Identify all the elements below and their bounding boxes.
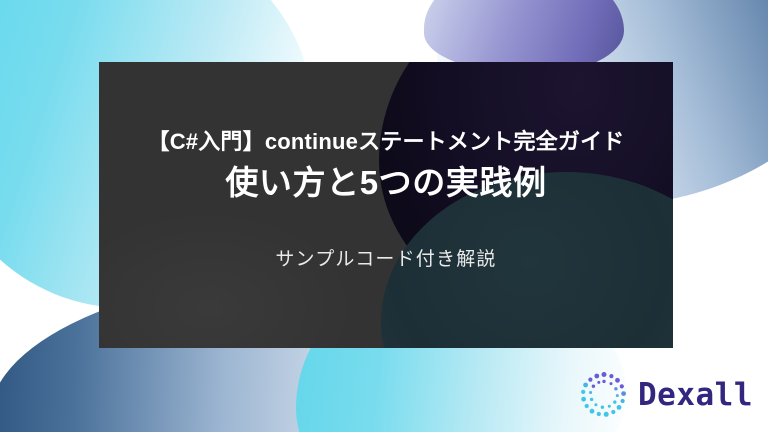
title-line-2: 使い方と5つの実践例 [225,162,546,205]
logo-wordmark: Dexall [638,380,753,411]
eyecatch-canvas: 【C#入門】continueステートメント完全ガイド 使い方と5つの実践例 サン… [0,0,768,432]
title-line-1: 【C#入門】continueステートメント完全ガイド [148,128,625,156]
title-block: 【C#入門】continueステートメント完全ガイド 使い方と5つの実践例 サン… [99,62,673,348]
subtitle: サンプルコード付き解説 [275,248,496,273]
dotted-ring-icon [578,369,630,421]
title-card: 【C#入門】continueステートメント完全ガイド 使い方と5つの実践例 サン… [99,62,673,348]
brand-logo: Dexall [578,365,760,425]
